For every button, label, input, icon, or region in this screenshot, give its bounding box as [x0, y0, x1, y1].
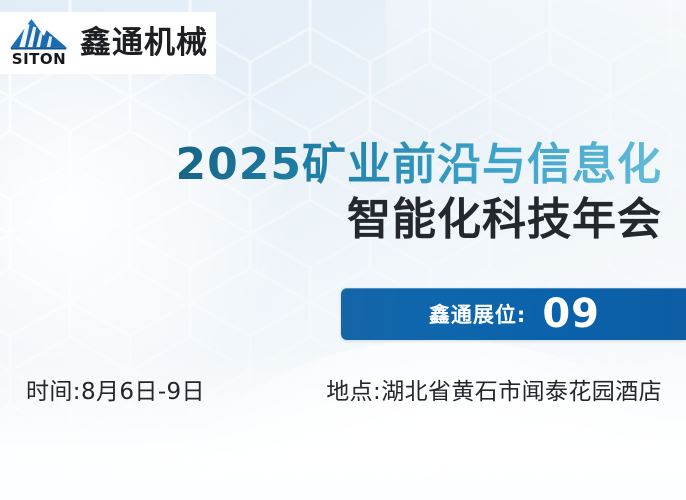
logo-chinese-name: 鑫通机械 — [80, 28, 208, 59]
headline-line-2: 智能化科技年会 — [0, 194, 662, 245]
event-date: 时间:8月6日-9日 — [26, 372, 205, 406]
booth-label: 鑫通展位: — [429, 299, 526, 329]
booth-banner: 鑫通展位: 09 — [341, 288, 686, 340]
event-venue: 地点:湖北省黄石市闻泰花园酒店 — [326, 372, 662, 406]
poster-headline: 2025矿业前沿与信息化 智能化科技年会 — [0, 140, 662, 245]
booth-number: 09 — [542, 294, 600, 334]
brand-logo: SITON 鑫通机械 — [0, 12, 216, 74]
hexagon-pattern-background — [0, 0, 686, 500]
promotional-poster: SITON 鑫通机械 2025矿业前沿与信息化 智能化科技年会 鑫通展位: 09… — [0, 0, 686, 500]
logo-english-name: SITON — [12, 52, 66, 67]
event-info-row: 时间:8月6日-9日 地点:湖北省黄石市闻泰花园酒店 — [26, 372, 662, 406]
headline-line-1: 2025矿业前沿与信息化 — [0, 140, 662, 190]
background-glow-bottom — [180, 340, 686, 500]
mountain-logo-icon: SITON — [8, 19, 70, 67]
